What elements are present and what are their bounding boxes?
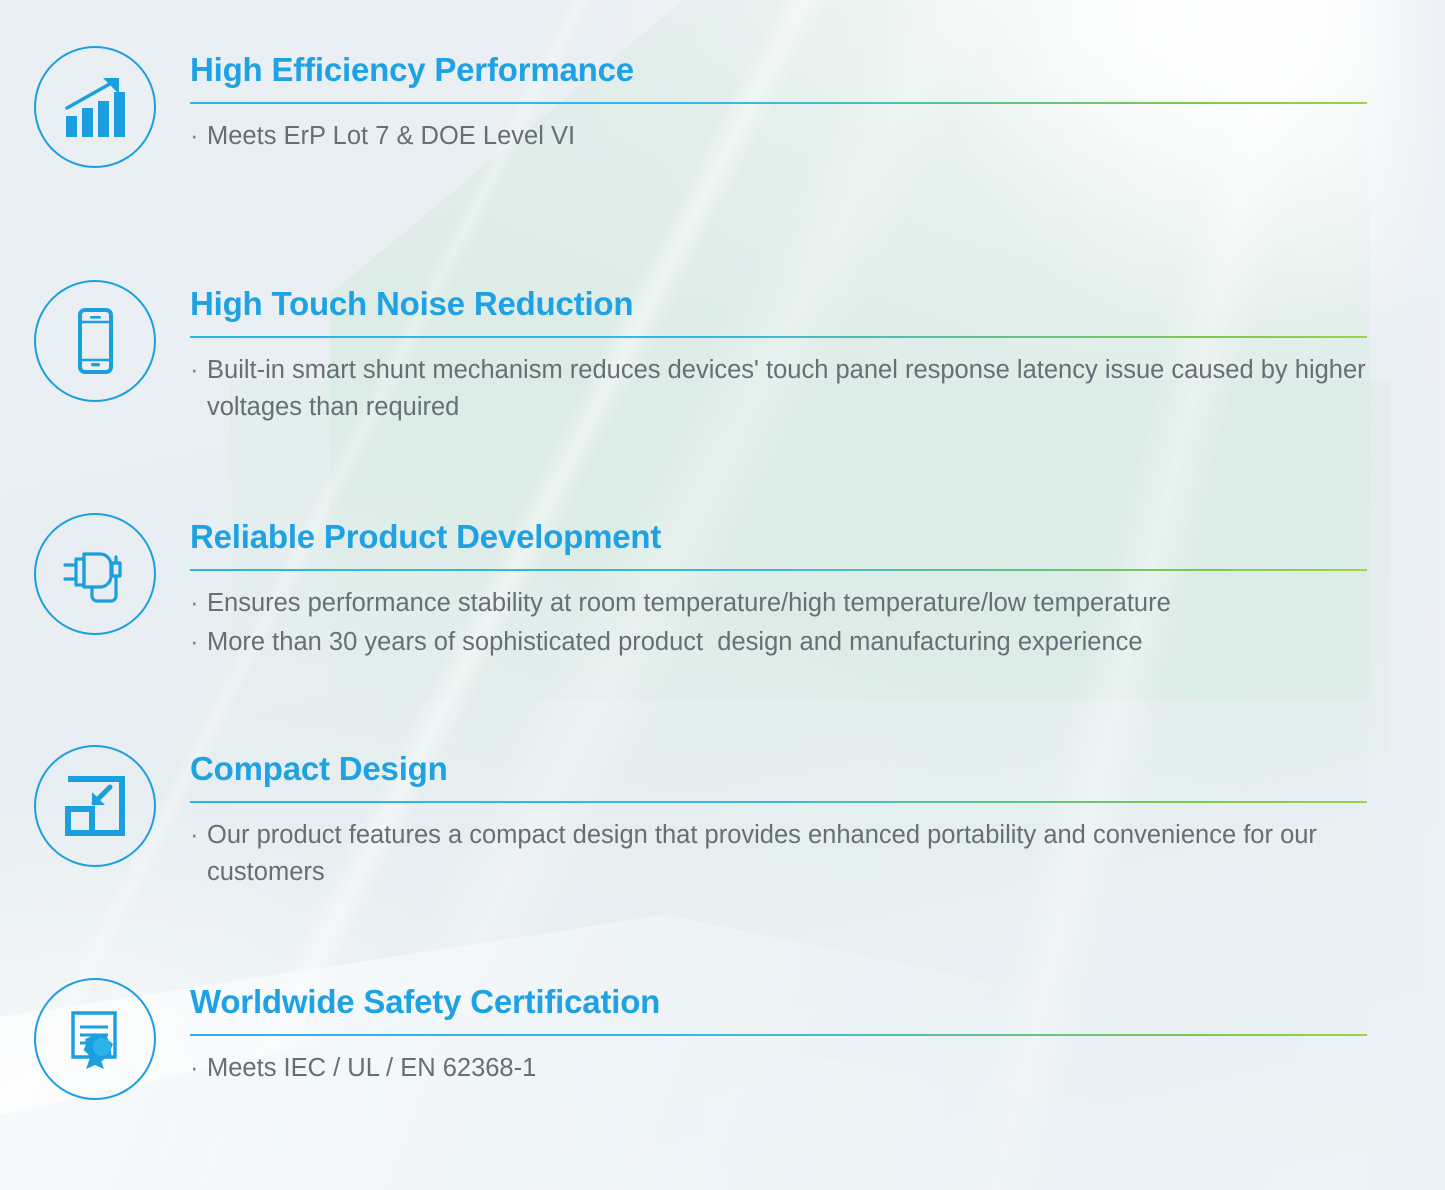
feature-title: Compact Design [190,751,1367,788]
bar-chart-growth-icon [34,46,156,168]
bullet-text: Meets IEC / UL / EN 62368-1 [207,1050,1367,1087]
bullet-item: · Meets IEC / UL / EN 62368-1 [190,1050,1367,1087]
bullet-text: More than 30 years of sophisticated prod… [207,624,1367,661]
feature-item-reliable-product-development: Reliable Product Development · Ensures p… [0,513,1445,661]
bullet-text: Our product features a compact design th… [207,817,1367,891]
feature-bullets: · Our product features a compact design … [190,817,1367,891]
feature-icon-wrap [0,745,190,867]
feature-icon-wrap [0,280,190,402]
feature-title: High Touch Noise Reduction [190,286,1367,323]
certificate-seal-icon [34,978,156,1100]
power-adapter-icon [34,513,156,635]
bullet-item: · More than 30 years of sophisticated pr… [190,624,1367,661]
feature-icon-wrap [0,513,190,635]
bullet-marker: · [190,624,207,661]
feature-body: Compact Design · Our product features a … [190,745,1445,891]
feature-item-worldwide-safety-certification: Worldwide Safety Certification · Meets I… [0,978,1445,1100]
bullet-marker: · [190,1050,207,1087]
feature-bullets: · Ensures performance stability at room … [190,585,1367,661]
feature-divider [190,569,1367,572]
bullet-text: Ensures performance stability at room te… [207,585,1367,622]
bullet-text: Meets ErP Lot 7 & DOE Level VI [207,118,1367,155]
feature-bullets: · Meets ErP Lot 7 & DOE Level VI [190,118,1367,155]
bullet-marker: · [190,352,207,426]
smartphone-icon [34,280,156,402]
feature-item-high-efficiency-performance: High Efficiency Performance · Meets ErP … [0,46,1445,168]
feature-body: High Efficiency Performance · Meets ErP … [190,46,1445,155]
feature-icon-wrap [0,978,190,1100]
feature-divider [190,102,1367,105]
feature-title: High Efficiency Performance [190,52,1367,89]
feature-body: Reliable Product Development · Ensures p… [190,513,1445,661]
bullet-marker: · [190,118,207,155]
bullet-item: · Our product features a compact design … [190,817,1367,891]
feature-divider [190,336,1367,339]
bullet-marker: · [190,817,207,891]
bullet-marker: · [190,585,207,622]
feature-item-compact-design: Compact Design · Our product features a … [0,745,1445,891]
bullet-item: · Ensures performance stability at room … [190,585,1367,622]
bullet-text: Built-in smart shunt mechanism reduces d… [207,352,1367,426]
feature-title: Reliable Product Development [190,519,1367,556]
feature-body: Worldwide Safety Certification · Meets I… [190,978,1445,1087]
bullet-item: · Built-in smart shunt mechanism reduces… [190,352,1367,426]
feature-title: Worldwide Safety Certification [190,984,1367,1021]
compact-resize-icon [34,745,156,867]
feature-bullets: · Built-in smart shunt mechanism reduces… [190,352,1367,426]
feature-item-high-touch-noise-reduction: High Touch Noise Reduction · Built-in sm… [0,280,1445,426]
bullet-item: · Meets ErP Lot 7 & DOE Level VI [190,118,1367,155]
feature-bullets: · Meets IEC / UL / EN 62368-1 [190,1050,1367,1087]
feature-divider [190,801,1367,804]
feature-body: High Touch Noise Reduction · Built-in sm… [190,280,1445,426]
feature-icon-wrap [0,46,190,168]
feature-divider [190,1034,1367,1037]
